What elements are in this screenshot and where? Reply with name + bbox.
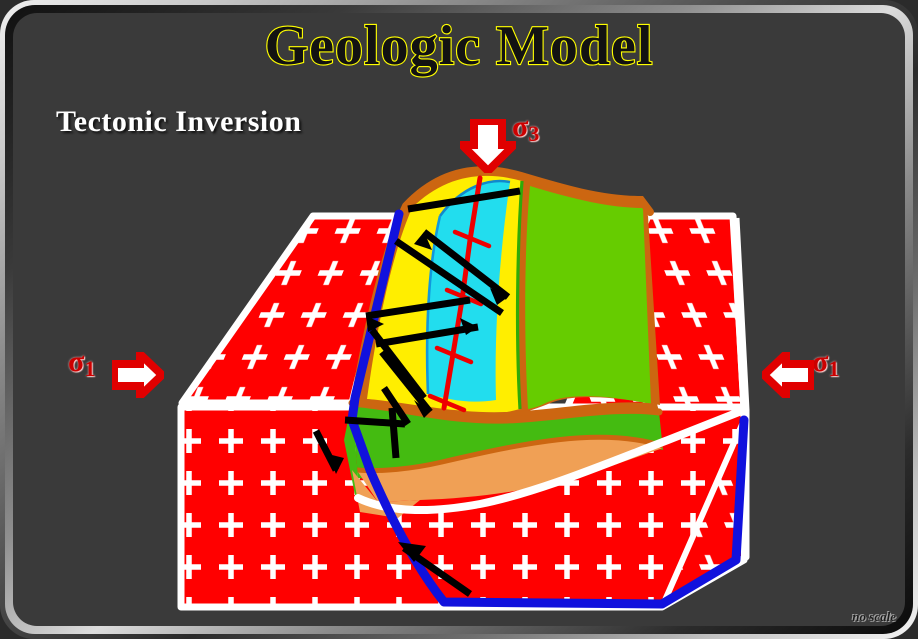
sigma-symbol: σ xyxy=(68,345,84,378)
block-diagram xyxy=(0,0,918,639)
subtitle: Tectonic Inversion xyxy=(56,105,301,139)
sigma-symbol: σ xyxy=(812,345,828,378)
page-title: Geologic Model xyxy=(0,17,918,76)
sigma1-right-label: σ1 xyxy=(812,347,839,380)
sigma-subscript: 1 xyxy=(828,356,839,381)
sigma1-left-label: σ1 xyxy=(68,347,95,380)
sigma3-label: σ3 xyxy=(512,112,539,145)
sigma-subscript: 3 xyxy=(528,121,539,146)
sigma1-arrow-left-icon xyxy=(762,352,814,398)
sigma-subscript: 1 xyxy=(84,356,95,381)
sigma3-arrow-down-icon xyxy=(460,119,516,173)
scale-note: no scale xyxy=(852,609,896,625)
slide-canvas: Geologic Model Tectonic Inversion no sca… xyxy=(0,0,918,639)
sigma1-arrow-right-icon xyxy=(112,352,164,398)
unit-green-backlimb xyxy=(525,186,651,409)
